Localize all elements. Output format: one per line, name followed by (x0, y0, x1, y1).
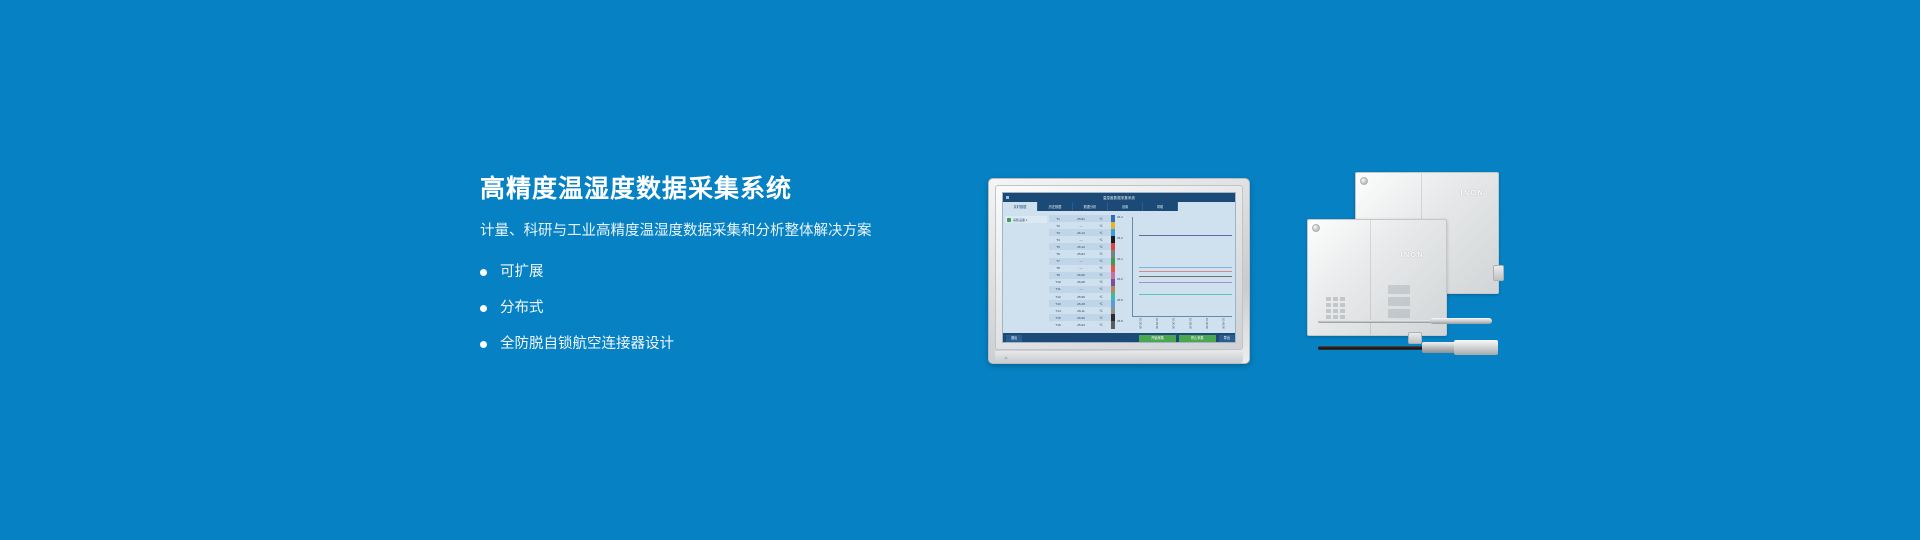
channel-value: 26.14 (1067, 231, 1095, 235)
bullet-icon (480, 341, 487, 348)
channel-unit: ℃ (1095, 266, 1107, 270)
channel-value: --- (1067, 238, 1095, 242)
channel-value: 26.06 (1067, 273, 1095, 277)
bullet-icon (480, 269, 487, 276)
y-tick-label: 25.8 (1117, 319, 1123, 323)
app-title-bar: 温湿度数据采集系统 (1003, 193, 1235, 202)
feature-label: 全防脱自锁航空连接器设计 (500, 334, 674, 354)
y-tick-label: 25.9 (1117, 298, 1123, 302)
channel-unit: ℃ (1095, 309, 1107, 313)
vent-slot (1326, 303, 1331, 307)
channel-value: --- (1067, 259, 1095, 263)
table-row[interactable]: T326.14℃ (1049, 229, 1111, 236)
channel-unit: ℃ (1095, 323, 1107, 327)
channel-unit: ℃ (1095, 217, 1107, 221)
screw-icon (1312, 224, 1320, 232)
x-tick-label: 10:40:00 (1205, 318, 1209, 331)
channel-unit: ℃ (1095, 280, 1107, 284)
trend-chart: 26.326.226.126.025.925.8 10:20:0010:25:0… (1115, 211, 1235, 333)
sensor-probes (1318, 312, 1498, 362)
channel-id: T4 (1049, 238, 1067, 242)
table-row[interactable]: T1426.11℃ (1049, 307, 1111, 314)
x-tick-label: 10:20:00 (1138, 318, 1142, 331)
channel-id: T13 (1049, 302, 1067, 306)
industrial-panel-monitor: 温湿度数据采集系统 实时数据 历史数据 数据分析 设置 帮助 采集设备 1 (988, 178, 1250, 364)
channel-value: 25.94 (1067, 323, 1095, 327)
channel-value: 25.83 (1067, 252, 1095, 256)
channel-id: T6 (1049, 252, 1067, 256)
vent-slot (1333, 303, 1338, 307)
banner-copy: 高精度温湿度数据采集系统 计量、科研与工业高精度温湿度数据采集和分析整体解决方案… (480, 172, 960, 370)
port-label (1388, 297, 1410, 306)
chart-series-line (1139, 271, 1232, 272)
table-row[interactable]: T4---℃ (1049, 236, 1111, 243)
y-tick-label: 26.1 (1117, 257, 1123, 261)
channel-unit: ℃ (1095, 245, 1107, 249)
app-tab-bar: 实时数据 历史数据 数据分析 设置 帮助 (1003, 202, 1235, 211)
channel-id: T10 (1049, 280, 1067, 284)
channel-id: T1 (1049, 217, 1067, 221)
channel-id: T7 (1049, 259, 1067, 263)
table-row[interactable]: T125.81℃ (1049, 215, 1111, 222)
y-tick-label: 26.3 (1117, 215, 1123, 219)
stop-acquisition-button[interactable]: 停止采集 (1179, 335, 1216, 342)
app-menu-icon[interactable] (1006, 196, 1009, 199)
device-tree-panel: 采集设备 1 (1003, 211, 1049, 333)
probe-housing (1454, 340, 1498, 355)
table-row[interactable]: T1326.28℃ (1049, 300, 1111, 307)
table-row[interactable]: T8---℃ (1049, 265, 1111, 272)
vent-row (1326, 297, 1366, 301)
channel-value: 26.08 (1067, 280, 1095, 284)
channel-value: --- (1067, 224, 1095, 228)
page-subtitle: 计量、科研与工业高精度温湿度数据采集和分析整体解决方案 (480, 220, 960, 242)
channel-id: T3 (1049, 231, 1067, 235)
channel-unit: ℃ (1095, 295, 1107, 299)
y-tick-label: 26.0 (1117, 277, 1123, 281)
chart-plot-area (1132, 217, 1232, 317)
chart-series-line (1139, 267, 1232, 268)
brand-label: INON (1461, 190, 1485, 197)
chart-x-axis: 10:20:0010:25:0010:30:0010:35:0010:40:00… (1132, 318, 1232, 331)
channel-value: --- (1067, 287, 1095, 291)
app-title: 温湿度数据采集系统 (1103, 195, 1135, 200)
channel-unit: ℃ (1095, 259, 1107, 263)
channel-unit: ℃ (1095, 287, 1107, 291)
channel-unit: ℃ (1095, 238, 1107, 242)
table-row[interactable]: T1625.94℃ (1049, 321, 1111, 328)
tab-history[interactable]: 历史数据 (1038, 202, 1073, 211)
connector-port (1493, 265, 1504, 281)
probe-ferrule (1422, 342, 1456, 353)
feature-list: 可扩展 分布式 全防脱自锁航空连接器设计 (480, 262, 960, 354)
chart-y-axis: 26.326.226.126.025.925.8 (1117, 215, 1131, 319)
channel-id: T11 (1049, 287, 1067, 291)
vent-row (1326, 303, 1366, 307)
vendor-logo-icon (1003, 355, 1009, 360)
table-row[interactable]: T7---℃ (1049, 258, 1111, 265)
list-item: 全防脱自锁航空连接器设计 (480, 334, 960, 354)
table-row[interactable]: T11---℃ (1049, 286, 1111, 293)
start-acquisition-button[interactable]: 开始采集 (1139, 335, 1176, 342)
bullet-icon (480, 305, 487, 312)
tab-bar-filler (1178, 202, 1235, 211)
table-row[interactable]: T625.83℃ (1049, 250, 1111, 257)
brand-label: INON (1401, 252, 1425, 259)
channel-id: T9 (1049, 273, 1067, 277)
chart-series-line (1139, 276, 1232, 277)
table-row[interactable]: T1225.96℃ (1049, 293, 1111, 300)
channel-id: T8 (1049, 266, 1067, 270)
channel-unit: ℃ (1095, 231, 1107, 235)
table-row[interactable]: T526.12℃ (1049, 243, 1111, 250)
channel-id: T5 (1049, 245, 1067, 249)
channel-value: 25.96 (1067, 295, 1095, 299)
list-item: 可扩展 (480, 262, 960, 282)
channel-value: 26.12 (1067, 245, 1095, 249)
probe-tip (1430, 318, 1492, 324)
device-tree-item[interactable]: 采集设备 1 (1005, 216, 1047, 223)
tab-analysis[interactable]: 数据分析 (1073, 202, 1108, 211)
humidity-probe-cabled (1318, 346, 1430, 350)
vent-slot (1333, 297, 1338, 301)
feature-label: 可扩展 (500, 262, 544, 282)
monitor-chin (995, 351, 1243, 363)
vent-slot (1340, 303, 1345, 307)
chart-series-line (1139, 235, 1232, 236)
channel-value: 26.90 (1067, 316, 1095, 320)
channel-value: 26.28 (1067, 302, 1095, 306)
chart-series-line (1139, 282, 1232, 283)
table-row[interactable]: T2---℃ (1049, 222, 1111, 229)
channel-unit: ℃ (1095, 302, 1107, 306)
tab-help[interactable]: 帮助 (1143, 202, 1178, 211)
app-body: 采集设备 1 T125.81℃T2---℃T326.14℃T4---℃T526.… (1003, 211, 1235, 333)
exit-button[interactable]: 退出 (1006, 335, 1022, 342)
x-tick-label: 10:45:00 (1222, 318, 1226, 331)
channel-id: T15 (1049, 316, 1067, 320)
x-tick-label: 10:25:00 (1155, 318, 1159, 331)
channel-unit: ℃ (1095, 316, 1107, 320)
channel-unit: ℃ (1095, 273, 1107, 277)
sensor-readings-table: T125.81℃T2---℃T326.14℃T4---℃T526.12℃T625… (1049, 211, 1111, 333)
screw-icon (1360, 177, 1368, 185)
y-tick-label: 26.2 (1117, 236, 1123, 240)
channel-id: T14 (1049, 309, 1067, 313)
device-tree-label: 采集设备 1 (1013, 218, 1028, 222)
monitor-inner-bezel: 温湿度数据采集系统 实时数据 历史数据 数据分析 设置 帮助 采集设备 1 (995, 185, 1243, 350)
channel-unit: ℃ (1095, 224, 1107, 228)
page-title: 高精度温湿度数据采集系统 (480, 172, 960, 206)
x-tick-label: 10:35:00 (1188, 318, 1192, 331)
tab-settings[interactable]: 设置 (1108, 202, 1143, 211)
device-status-icon (1007, 218, 1011, 222)
temperature-probe-stainless (1318, 320, 1436, 323)
channel-id: T12 (1049, 295, 1067, 299)
vent-slot (1340, 297, 1345, 301)
app-footer-toolbar: 退出 开始采集 停止采集 导出 (1003, 333, 1235, 343)
port-label (1388, 285, 1410, 294)
x-tick-label: 10:30:00 (1172, 318, 1176, 331)
table-row[interactable]: T926.06℃ (1049, 272, 1111, 279)
channel-unit: ℃ (1095, 252, 1107, 256)
channel-value: --- (1067, 266, 1095, 270)
product-banner: 高精度温湿度数据采集系统 计量、科研与工业高精度温湿度数据采集和分析整体解决方案… (0, 0, 1920, 540)
export-button[interactable]: 导出 (1219, 335, 1235, 342)
tab-realtime[interactable]: 实时数据 (1003, 202, 1038, 211)
feature-label: 分布式 (500, 298, 544, 318)
table-row[interactable]: T1026.08℃ (1049, 279, 1111, 286)
channel-id: T2 (1049, 224, 1067, 228)
channel-id: T16 (1049, 323, 1067, 327)
channel-value: 25.81 (1067, 217, 1095, 221)
monitor-screen: 温湿度数据采集系统 实时数据 历史数据 数据分析 设置 帮助 采集设备 1 (1002, 192, 1236, 343)
chart-series-line (1139, 294, 1232, 295)
vent-slot (1326, 297, 1331, 301)
table-row[interactable]: T1526.90℃ (1049, 314, 1111, 321)
channel-value: 26.11 (1067, 309, 1095, 313)
list-item: 分布式 (480, 298, 960, 318)
